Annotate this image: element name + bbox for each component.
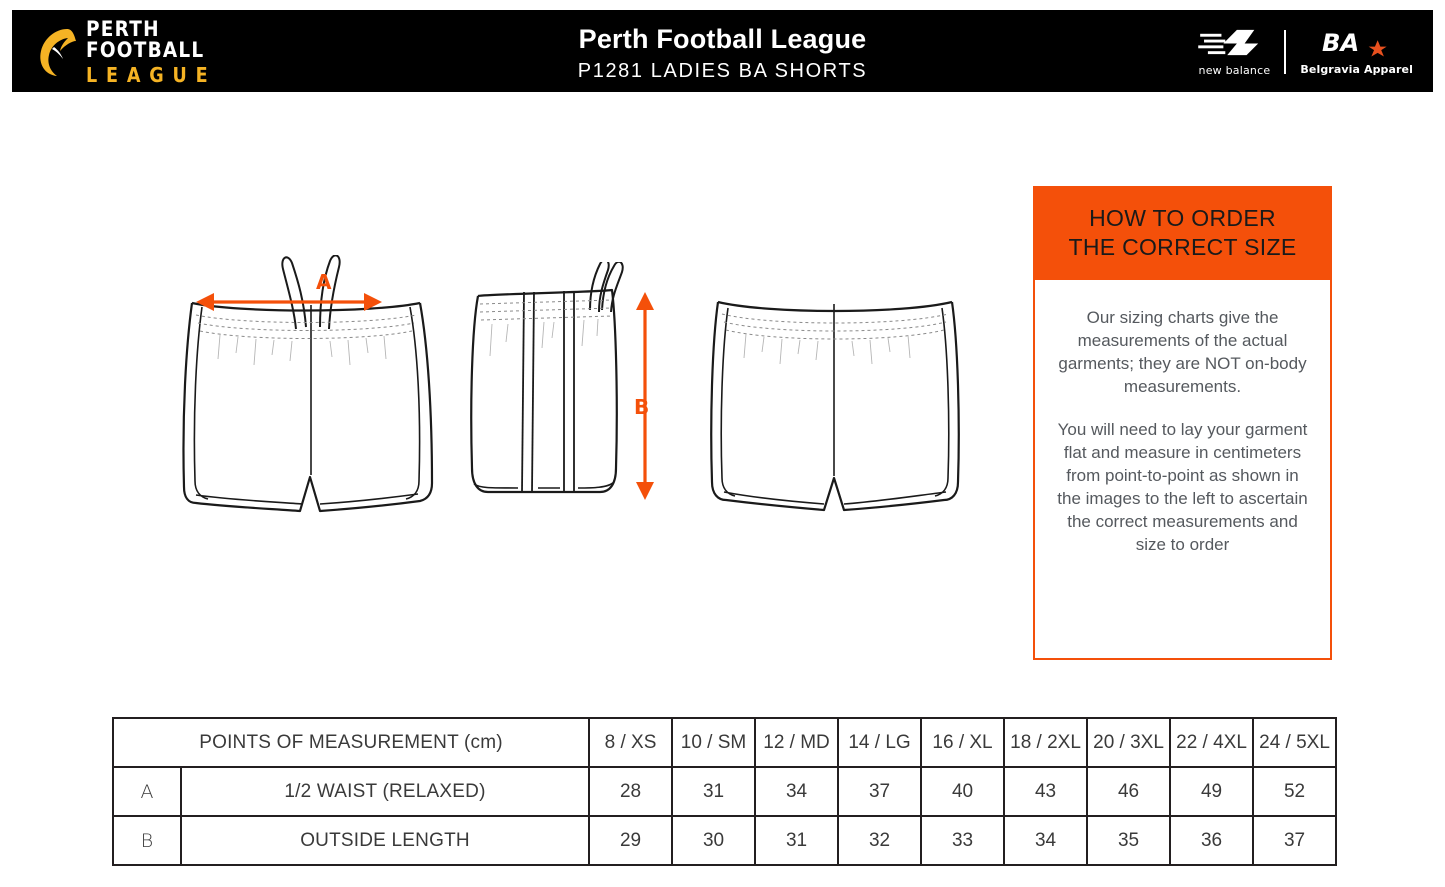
belgravia-apparel-logo-icon: BA bbox=[1322, 29, 1392, 62]
new-balance-logo: new balance bbox=[1198, 28, 1270, 77]
dimension-arrow-a bbox=[194, 289, 384, 315]
cell-a-2: 34 bbox=[755, 767, 838, 816]
brand-divider bbox=[1284, 30, 1286, 74]
cell-b-4: 33 bbox=[921, 816, 1004, 865]
cell-a-5: 43 bbox=[1004, 767, 1087, 816]
cell-a-3: 37 bbox=[838, 767, 921, 816]
table-head: POINTS OF MEASUREMENT (cm) 8 / XS 10 / S… bbox=[113, 718, 1336, 767]
garment-illustrations: A bbox=[120, 240, 980, 540]
table-body: A 1/2 WAIST (RELAXED) 28 31 34 37 40 43 … bbox=[113, 767, 1336, 865]
how-to-order-heading-line1: HOW TO ORDER bbox=[1045, 204, 1320, 233]
how-to-order-paragraph-1: Our sizing charts give the measurements … bbox=[1055, 306, 1310, 398]
row-letter-a: A bbox=[113, 767, 181, 816]
table-row: B OUTSIDE LENGTH 29 30 31 32 33 34 35 36… bbox=[113, 816, 1336, 865]
row-name-a: 1/2 WAIST (RELAXED) bbox=[181, 767, 589, 816]
svg-text:BA: BA bbox=[1322, 29, 1359, 57]
size-column-header-8: 24 / 5XL bbox=[1253, 718, 1336, 767]
cell-b-7: 36 bbox=[1170, 816, 1253, 865]
size-column-header-4: 16 / XL bbox=[921, 718, 1004, 767]
table-row: A 1/2 WAIST (RELAXED) 28 31 34 37 40 43 … bbox=[113, 767, 1336, 816]
points-of-measurement-header: POINTS OF MEASUREMENT (cm) bbox=[113, 718, 589, 767]
cell-b-8: 37 bbox=[1253, 816, 1336, 865]
cell-b-2: 31 bbox=[755, 816, 838, 865]
swan-logo-icon bbox=[34, 25, 80, 79]
belgravia-apparel-label: Belgravia Apparel bbox=[1300, 63, 1413, 76]
cell-a-1: 31 bbox=[672, 767, 755, 816]
row-letter-b: B bbox=[113, 816, 181, 865]
shorts-front-view bbox=[180, 255, 440, 540]
size-column-header-5: 18 / 2XL bbox=[1004, 718, 1087, 767]
row-name-b: OUTSIDE LENGTH bbox=[181, 816, 589, 865]
size-column-header-6: 20 / 3XL bbox=[1087, 718, 1170, 767]
cell-a-6: 46 bbox=[1087, 767, 1170, 816]
cell-a-8: 52 bbox=[1253, 767, 1336, 816]
logo-line-2: LEAGUE bbox=[86, 65, 243, 85]
cell-a-7: 49 bbox=[1170, 767, 1253, 816]
how-to-order-panel: HOW TO ORDER THE CORRECT SIZE Our sizing… bbox=[1033, 186, 1332, 660]
cell-a-0: 28 bbox=[589, 767, 672, 816]
how-to-order-heading-line2: THE CORRECT SIZE bbox=[1045, 233, 1320, 262]
new-balance-logo-icon bbox=[1198, 28, 1270, 62]
shorts-side-view bbox=[460, 262, 640, 537]
size-column-header-0: 8 / XS bbox=[589, 718, 672, 767]
table-header-row: POINTS OF MEASUREMENT (cm) 8 / XS 10 / S… bbox=[113, 718, 1336, 767]
cell-b-5: 34 bbox=[1004, 816, 1087, 865]
cell-b-0: 29 bbox=[589, 816, 672, 865]
size-chart-table-wrapper: POINTS OF MEASUREMENT (cm) 8 / XS 10 / S… bbox=[112, 717, 1332, 866]
belgravia-apparel-logo: BA Belgravia Apparel bbox=[1300, 29, 1413, 76]
shorts-back-view bbox=[710, 282, 960, 532]
how-to-order-heading: HOW TO ORDER THE CORRECT SIZE bbox=[1035, 188, 1330, 280]
dimension-label-a: A bbox=[316, 270, 331, 294]
size-column-header-3: 14 / LG bbox=[838, 718, 921, 767]
how-to-order-body: Our sizing charts give the measurements … bbox=[1035, 280, 1330, 567]
size-column-header-2: 12 / MD bbox=[755, 718, 838, 767]
size-column-header-7: 22 / 4XL bbox=[1170, 718, 1253, 767]
how-to-order-paragraph-2: You will need to lay your garment flat a… bbox=[1055, 418, 1310, 557]
brand-logo-group: new balance BA Belgravia Apparel bbox=[1198, 26, 1413, 78]
new-balance-label: new balance bbox=[1199, 64, 1271, 77]
size-chart-table: POINTS OF MEASUREMENT (cm) 8 / XS 10 / S… bbox=[112, 717, 1337, 866]
cell-b-3: 32 bbox=[838, 816, 921, 865]
perth-football-league-logo: PERTH FOOTBALL LEAGUE bbox=[34, 22, 264, 82]
size-column-header-1: 10 / SM bbox=[672, 718, 755, 767]
page-header: PERTH FOOTBALL LEAGUE Perth Football Lea… bbox=[12, 10, 1433, 92]
cell-b-6: 35 bbox=[1087, 816, 1170, 865]
cell-b-1: 30 bbox=[672, 816, 755, 865]
dimension-label-b: B bbox=[634, 395, 649, 419]
cell-a-4: 40 bbox=[921, 767, 1004, 816]
logo-wordmark: PERTH FOOTBALL LEAGUE bbox=[86, 19, 264, 85]
logo-line-1: PERTH FOOTBALL bbox=[86, 19, 243, 61]
